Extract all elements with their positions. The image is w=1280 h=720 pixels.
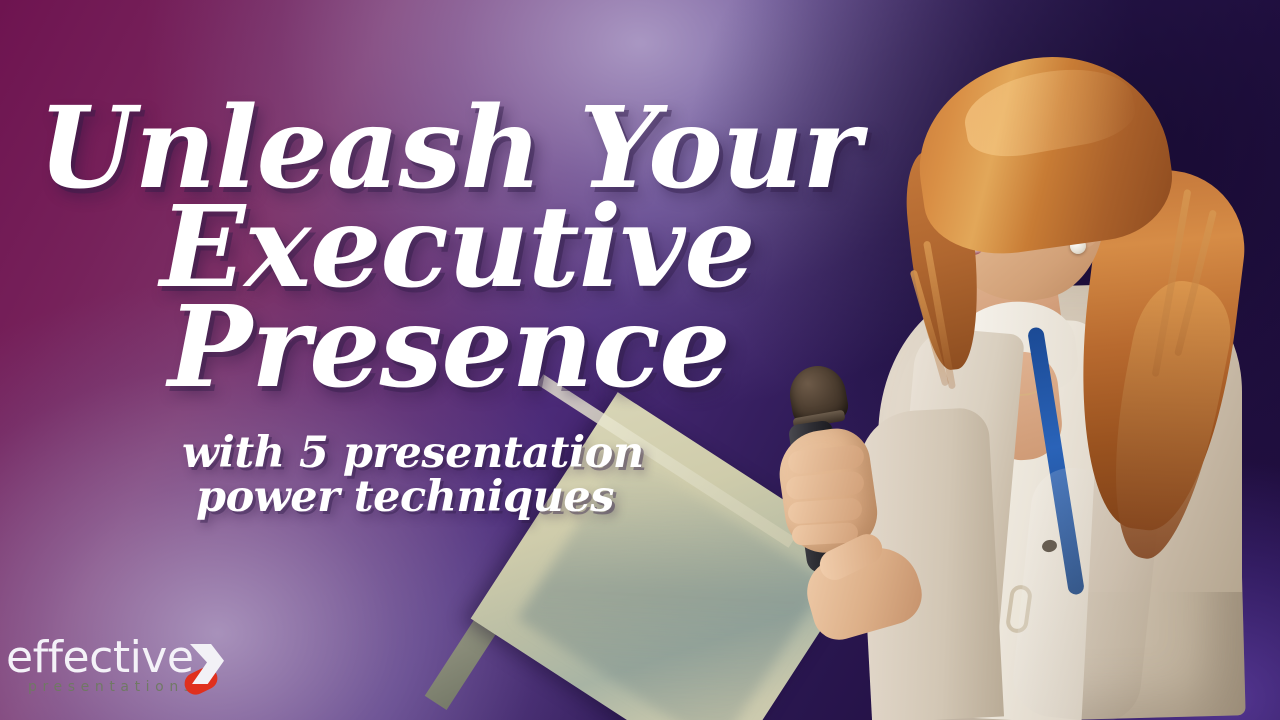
subheadline: with 5 presentation power techniques (0, 432, 760, 520)
thumbnail-canvas: Unleash Your Executive Presence with 5 p… (0, 0, 1280, 720)
headline-line-3: Presence (0, 295, 980, 400)
logo-tagline: presentations (28, 680, 197, 694)
subheadline-line-2: power techniques (0, 476, 760, 520)
logo-wordmark: effective (6, 636, 193, 680)
chevron-swoosh-icon (180, 644, 238, 702)
subheadline-line-1: with 5 presentation (0, 432, 760, 476)
headline: Unleash Your Executive Presence (0, 96, 980, 400)
brand-logo[interactable]: effective presentations (6, 636, 246, 710)
